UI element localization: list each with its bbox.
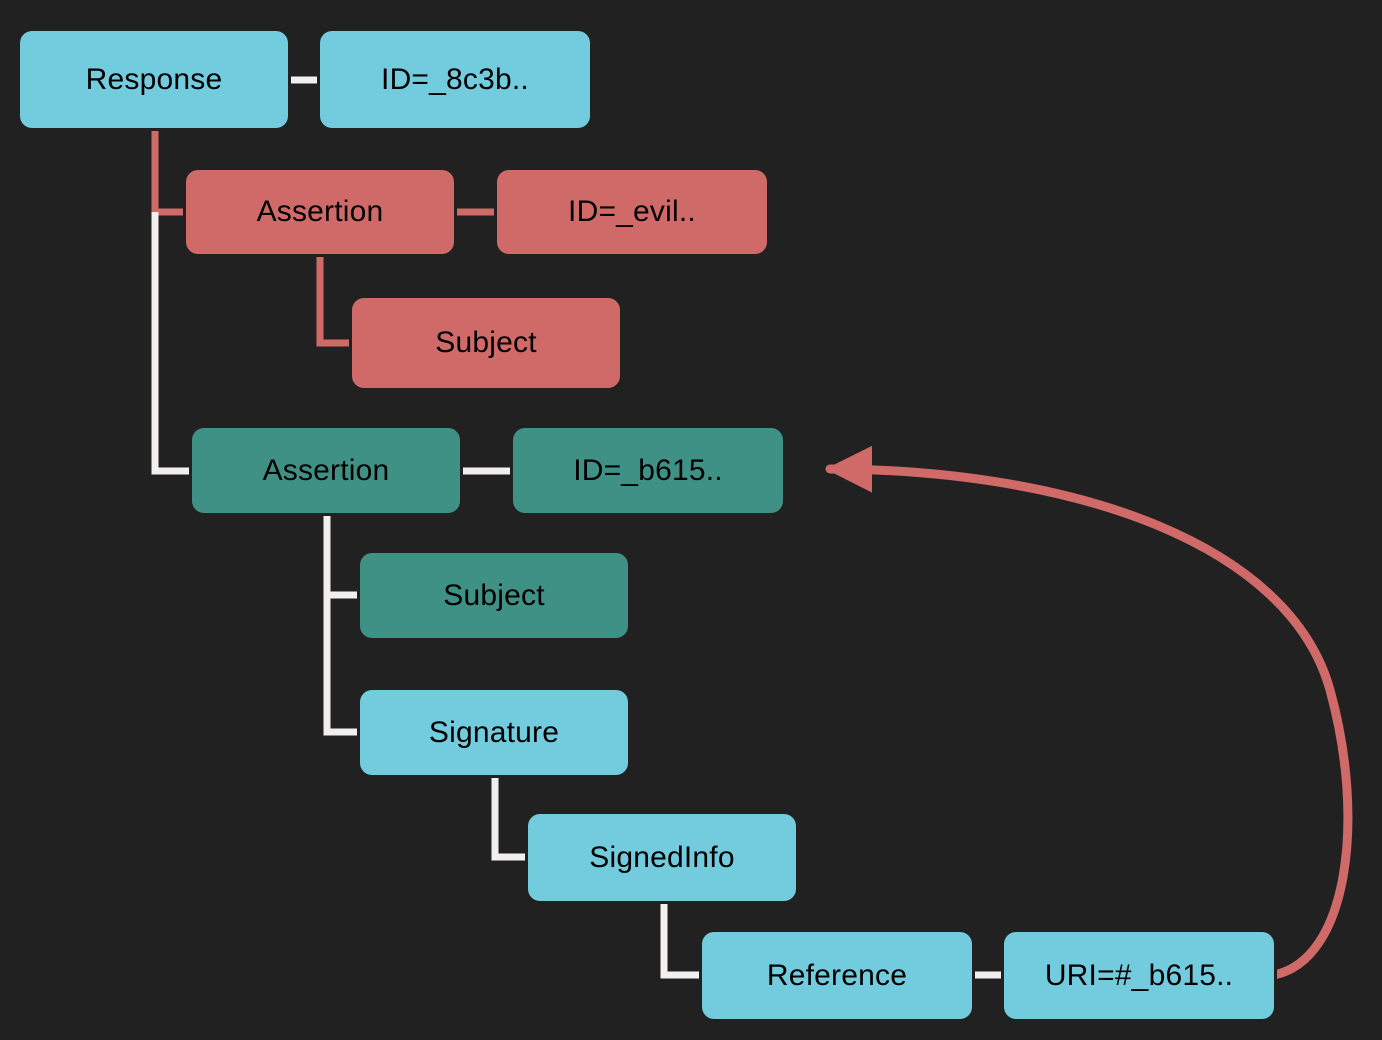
edge-assertion-valid-to-signature [327,513,360,732]
diagram-canvas: Response ID=_8c3b.. Assertion ID=_evil..… [0,0,1382,1040]
edge-uri-reference-arc [830,469,1348,975]
edge-signature-to-signedinfo [495,775,528,857]
edge-response-to-assertion-evil [155,128,186,212]
edge-assertion-evil-to-subject [320,254,352,343]
node-assertion-evil-id[interactable]: ID=_evil.. [497,170,767,254]
node-response-label: Response [86,65,223,95]
edge-assertion-valid-to-subject [327,513,360,595]
node-signature[interactable]: Signature [360,690,628,775]
node-assertion-valid-label: Assertion [263,456,390,486]
node-response-id-label: ID=_8c3b.. [381,65,529,95]
node-reference-uri-label: URI=#_b615.. [1045,961,1233,991]
node-assertion-evil[interactable]: Assertion [186,170,454,254]
node-response[interactable]: Response [20,31,288,128]
node-assertion-valid[interactable]: Assertion [192,428,460,513]
node-assertion-evil-label: Assertion [257,197,384,227]
edge-signedinfo-to-reference [664,901,702,975]
node-signedinfo[interactable]: SignedInfo [528,814,796,901]
node-subject-evil-label: Subject [435,328,536,358]
node-subject-valid[interactable]: Subject [360,553,628,638]
node-subject-evil[interactable]: Subject [352,298,620,388]
node-assertion-valid-id-label: ID=_b615.. [573,456,723,486]
node-signedinfo-label: SignedInfo [589,843,734,873]
edge-response-to-assertion-valid [155,212,192,471]
node-signature-label: Signature [429,718,559,748]
node-subject-valid-label: Subject [443,581,544,611]
node-reference-label: Reference [767,961,907,991]
node-reference-uri[interactable]: URI=#_b615.. [1004,932,1274,1019]
node-assertion-evil-id-label: ID=_evil.. [568,197,696,227]
node-assertion-valid-id[interactable]: ID=_b615.. [513,428,783,513]
node-response-id[interactable]: ID=_8c3b.. [320,31,590,128]
node-reference[interactable]: Reference [702,932,972,1019]
